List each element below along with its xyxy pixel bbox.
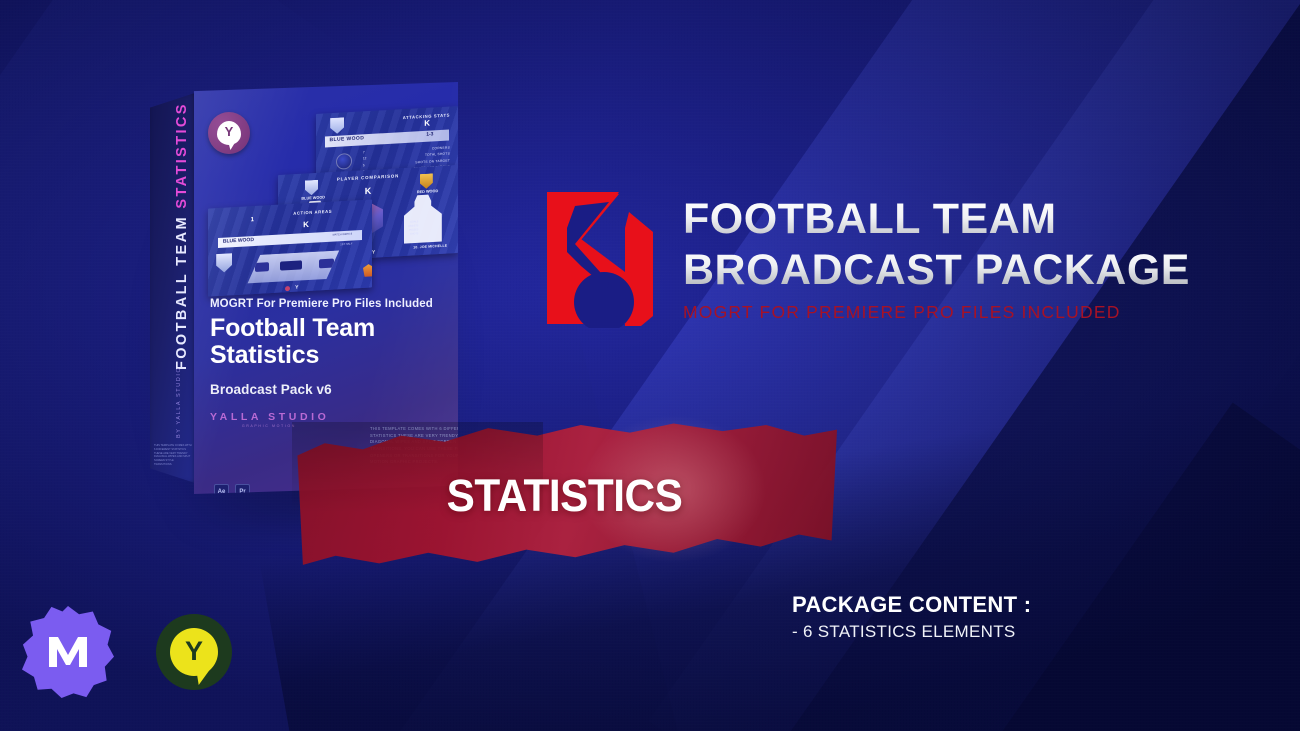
title-line-2: BROADCAST PACKAGE xyxy=(683,249,1223,292)
product-box-spine: FOOTBALL TEAM STATISTICS BY YALLA STUDIO… xyxy=(150,92,198,484)
yalla-studio-badge-icon: Y xyxy=(156,614,232,690)
motion-array-badge-icon xyxy=(22,606,114,698)
title-block: FOOTBALL TEAM BROADCAST PACKAGE MOGRT FO… xyxy=(683,198,1223,323)
spine-fine-print: THIS TEMPLATE COMES WITH 6 DIFFERENT STA… xyxy=(154,444,192,467)
k-monogram-logo-icon xyxy=(545,188,663,328)
spine-byline: BY YALLA STUDIO xyxy=(176,308,182,438)
package-content-block: PACKAGE CONTENT : - 6 STATISTICS ELEMENT… xyxy=(792,592,1122,642)
package-content-item: - 6 STATISTICS ELEMENTS xyxy=(792,622,1122,642)
spine-title-accent: STATISTICS xyxy=(174,102,190,208)
package-content-title: PACKAGE CONTENT : xyxy=(792,592,1122,618)
title-line-1: FOOTBALL TEAM xyxy=(683,198,1223,241)
motion-array-m-glyph xyxy=(45,629,91,675)
banner-label: STATISTICS xyxy=(308,470,820,522)
yalla-badge-letter: Y xyxy=(170,636,218,666)
poster-canvas: FOOTBALL TEAM STATISTICS BY YALLA STUDIO… xyxy=(0,0,1300,731)
torn-paper-banner: STATISTICS xyxy=(292,422,837,574)
badge-row: Y xyxy=(22,606,232,698)
speech-bubble-icon: Y xyxy=(170,628,218,676)
title-subtitle: MOGRT FOR PREMIERE PRO FILES INCLUDED xyxy=(683,302,1223,323)
